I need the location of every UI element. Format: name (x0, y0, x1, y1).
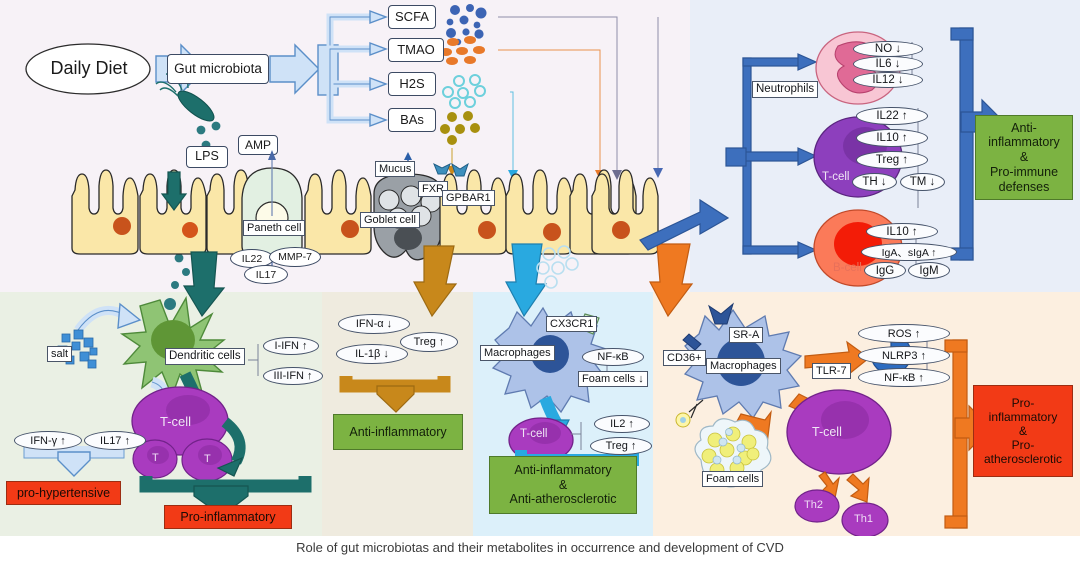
immune-outcome-box: Anti- inflammatory & Pro-immune defenses (975, 115, 1073, 200)
dendritic-cytokine-ifng: IFN-γ ↑ (14, 431, 82, 450)
antiinflam-marker-ifna: IFN-α ↓ (338, 314, 410, 334)
bcell-marker-igm: IgM (908, 262, 950, 279)
immune-outcome-line-0: Anti- (1011, 121, 1037, 136)
tlr7-label: TLR-7 (812, 363, 851, 379)
b-cell-label: B-cell (833, 262, 862, 274)
antiinflam-marker-treg: Treg ↑ (400, 332, 458, 352)
foam-cells-label: Foam cells (702, 471, 763, 487)
blue-outcome-line-2: Anti-atherosclerotic (510, 492, 617, 507)
metabolite-box-h2s[interactable]: H2S (388, 72, 436, 96)
tcell-blue-marker-treg: Treg ↑ (590, 437, 652, 455)
bcell-marker-igg: IgG (864, 262, 906, 279)
dendritic-tcell-label: T-cell (160, 414, 191, 429)
salt-label: salt (47, 346, 72, 362)
tcell-blue-marker-il2: IL2 ↑ (594, 415, 650, 433)
dendritic-cells-label: Dendritic cells (165, 348, 245, 365)
cd36-label: CD36+ (663, 350, 706, 366)
orange-outcome-line-2: & (1019, 424, 1027, 438)
gpbar1-label: GPBAR1 (442, 190, 495, 206)
mucus-label: Mucus (375, 161, 415, 177)
lps-box[interactable]: LPS (186, 146, 228, 168)
blue-outcome-line-0: Anti-inflammatory (514, 463, 611, 478)
figure-root: Daily Diet Gut microbiota SCFA TMAO H2S … (0, 0, 1080, 568)
goblet-cell-label: Goblet cell (360, 212, 420, 228)
pro-hypertensive-box: pro-hypertensive (6, 481, 121, 505)
macrophage-orange-tcell-label: T-cell (812, 425, 842, 439)
immune-outcome-line-3: Pro-immune (990, 165, 1058, 180)
macrophage-blue-outcome-box: Anti-inflammatory & Anti-atherosclerotic (489, 456, 637, 514)
neutrophil-marker-no: NO ↓ (853, 41, 923, 57)
cx3cr1-label: CX3CR1 (546, 316, 597, 332)
metabolite-box-scfa[interactable]: SCFA (388, 5, 436, 29)
dendritic-t-small-label-1: T (152, 452, 159, 464)
dendritic-cytokine-il17: IL17 ↑ (84, 431, 146, 450)
immune-outcome-line-2: & (1020, 150, 1028, 165)
diagram-canvas: Daily Diet Gut microbiota SCFA TMAO H2S … (0, 0, 1080, 536)
daily-diet-label: Daily Diet (41, 58, 137, 79)
pro-inflammatory-box: Pro-inflammatory (164, 505, 292, 529)
th2-label: Th2 (804, 499, 823, 511)
macrophage-blue-marker-foamcells: Foam cells ↓ (578, 371, 648, 387)
paneth-output-mmp7: MMP-7 (269, 247, 321, 267)
orange-marker-ros: ROS ↑ (858, 324, 950, 343)
sr-a-label: SR-A (729, 327, 763, 343)
neutrophil-label: Neutrophils (752, 81, 818, 98)
tcell-marker-treg: Treg ↑ (856, 151, 928, 169)
macrophage-blue-marker-nfkb: NF-κB (582, 348, 644, 366)
dendritic-t-small-label-2: T (204, 453, 211, 465)
antiinflam-outcome-box: Anti-inflammatory (333, 414, 463, 450)
orange-outcome-line-3: Pro- (1012, 438, 1035, 452)
tcell-marker-th: TH ↓ (852, 173, 897, 191)
th1-label: Th1 (854, 513, 873, 525)
orange-marker-nlrp3: NLRP3 ↑ (858, 346, 950, 365)
blue-outcome-line-1: & (559, 478, 567, 493)
orange-outcome-line-0: Pro- (1012, 396, 1035, 410)
tcell-marker-il22: IL22 ↑ (856, 107, 928, 125)
bcell-marker-il10: IL10 ↑ (866, 223, 938, 240)
metabolite-box-bas[interactable]: BAs (388, 108, 436, 132)
figure-caption: Role of gut microbiotas and their metabo… (0, 540, 1080, 555)
t-cell-label: T-cell (822, 171, 849, 183)
orange-marker-nfkb: NF-κB ↑ (858, 368, 950, 387)
macrophages-orange-label: Macrophages (706, 358, 781, 374)
orange-outcome-line-1: inflammatory (989, 410, 1058, 424)
paneth-cell-label: Paneth cell (243, 220, 305, 236)
tcell-marker-il10: IL10 ↑ (856, 129, 928, 147)
tcell-marker-tm: TM ↓ (900, 173, 945, 191)
bcell-marker-iga: IgA、sIgA ↑ (861, 243, 957, 261)
orange-outcome-line-4: atherosclerotic (984, 452, 1062, 466)
immune-outcome-line-1: inflammatory (988, 135, 1060, 150)
orange-outcome-box: Pro- inflammatory & Pro- atherosclerotic (973, 385, 1073, 477)
neutrophil-marker-il12: IL12 ↓ (853, 72, 923, 88)
metabolite-box-tmao[interactable]: TMAO (388, 38, 444, 62)
gut-microbiota-box[interactable]: Gut microbiota (167, 54, 269, 84)
dendritic-marker-i-ifn: I-IFN ↑ (263, 337, 319, 355)
antiinflam-marker-il1b: IL-1β ↓ (336, 344, 408, 364)
neutrophil-marker-il6: IL6 ↓ (853, 56, 923, 72)
macrophage-blue-tcell-label: T-cell (520, 428, 547, 440)
macrophages-blue-label: Macrophages (480, 345, 555, 361)
paneth-output-il17: IL17 (244, 265, 288, 284)
immune-outcome-line-4: defenses (999, 180, 1050, 195)
amp-box[interactable]: AMP (238, 135, 278, 155)
dendritic-marker-iii-ifn: III-IFN ↑ (263, 367, 323, 385)
